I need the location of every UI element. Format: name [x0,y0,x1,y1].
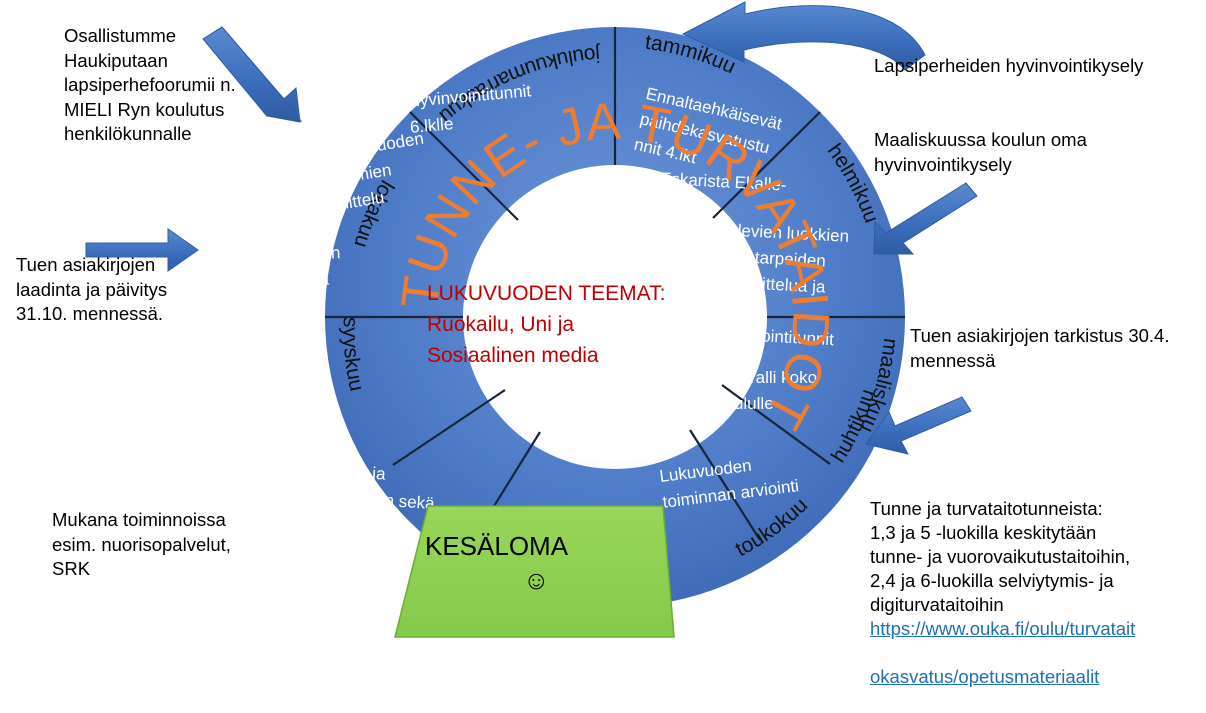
center-line-2: Ruokailu, Uni ja [427,313,574,336]
arrow-to-maaliskuu [874,183,977,254]
note-right-bottom-body: Tunne ja turvataitotunneista: 1,3 ja 5 -… [870,498,1130,615]
note-right-top: Lapsiperheiden hyvinvointikysely [874,54,1174,79]
seg-line: suunnittelu [235,421,317,440]
note-right-second: Maaliskuussa koulun oma hyvinvointikysel… [874,128,1174,177]
kesaloma-label: KESÄLOMA [425,531,569,561]
turvataitokasvatus-link-line1[interactable]: https://www.ouka.fi/oulu/turvatait [870,617,1200,641]
note-right-third: Tuen asiakirjojen tarkistus 30.4. mennes… [910,324,1190,373]
seg-line: Lukuvuoden [235,369,328,388]
smiley-icon: ☺ [523,565,550,595]
segment-text-syyskuu: Lukuvuoden toiminnan suunnittelu [235,369,328,440]
note-left-middle: Tuen asiakirjojen laadinta ja päivitys 3… [16,253,201,327]
note-left-top: Osallistumme Haukiputaan lapsiperhefooru… [64,24,249,147]
seg-line: 2.lkn [714,298,751,319]
seg-line: 6.lklle [409,114,454,137]
note-left-bottom: Mukana toiminnoissa esim. nuorisopalvelu… [52,508,242,582]
seg-line: läpikäyntiä ja [230,270,329,292]
seg-line: jatkotoimien [230,296,322,318]
kesaloma-block: KESÄLOMA ☺ [395,506,674,637]
turvataitokasvatus-link-line2[interactable]: okasvatus/opetusmateriaalit [870,665,1200,689]
seg-line: suunnittelu [232,322,315,344]
seg-line: toiminnan [235,395,309,414]
seg-line: ilta [658,195,681,215]
seg-line: koulun säännöt [271,509,388,536]
note-right-bottom: Tunne ja turvataitotunneista: 1,3 ja 5 -… [870,473,1200,713]
center-line-3: Sosiaalinen media [427,344,599,367]
center-line-1: LUKUVUODEN TEEMAT: [427,282,665,305]
diagram-canvas: tammikuu helmikuu maaliskuu huhtikuu tou… [0,0,1206,677]
seg-line: THL:n tulosten [230,243,341,266]
